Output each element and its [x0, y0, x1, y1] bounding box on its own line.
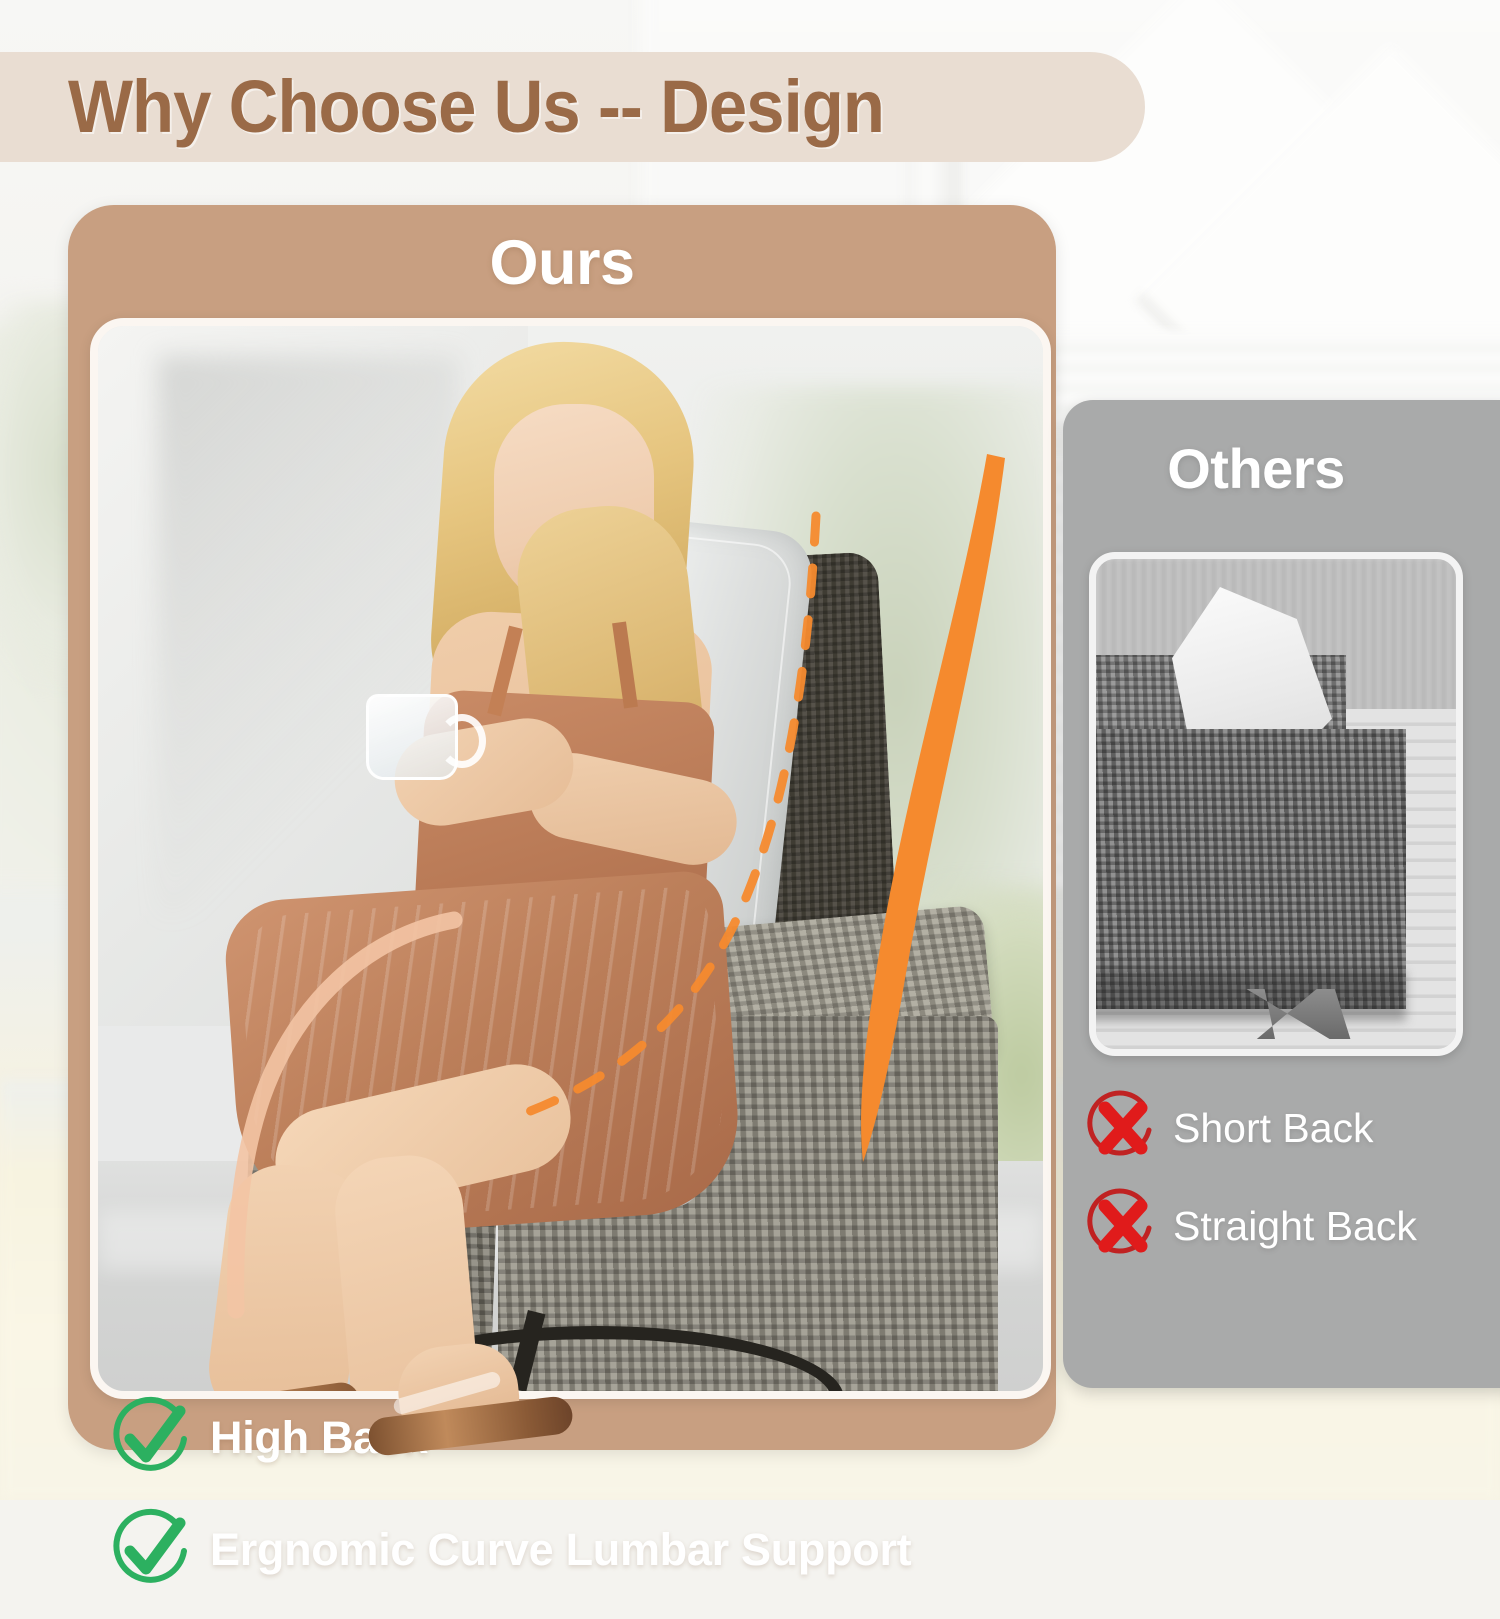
ours-product-photo: [90, 318, 1051, 1399]
page-title: Why Choose Us -- Design: [68, 70, 884, 144]
cross-circle-icon: [1085, 1188, 1161, 1264]
photo-wall-shadow: [158, 356, 458, 916]
others-sofa-shadow: [1089, 971, 1406, 1021]
others-feature-list: Short Back Straight Back: [1085, 1090, 1500, 1286]
others-panel-title: Others: [1063, 436, 1449, 501]
others-feature-label: Straight Back: [1173, 1203, 1417, 1250]
others-feature-label: Short Back: [1173, 1105, 1374, 1152]
others-sofa-body: [1089, 729, 1406, 1009]
ours-feature-item-1: Ergnomic Curve Lumbar Support: [108, 1507, 1028, 1593]
others-panel: Others Short Back Straight Back: [1063, 400, 1500, 1388]
ours-feature-label: Ergnomic Curve Lumbar Support: [210, 1524, 911, 1576]
glass-mug-handle: [438, 714, 486, 768]
title-banner: Why Choose Us -- Design: [0, 52, 1145, 162]
ours-panel-title: Ours: [68, 227, 1056, 299]
others-feature-item-0: Short Back: [1085, 1090, 1500, 1166]
cross-circle-icon: [1085, 1090, 1161, 1166]
others-product-photo: [1089, 552, 1463, 1056]
ours-panel: Ours: [68, 205, 1056, 1450]
check-circle-icon: [108, 1507, 194, 1593]
ours-feature-item-0: High Back: [108, 1395, 1028, 1481]
check-circle-icon: [108, 1395, 194, 1481]
ours-feature-label: High Back: [210, 1412, 427, 1464]
others-feature-item-1: Straight Back: [1085, 1188, 1500, 1264]
ours-feature-list: High Back Ergnomic Curve Lumbar Support: [108, 1395, 1028, 1619]
